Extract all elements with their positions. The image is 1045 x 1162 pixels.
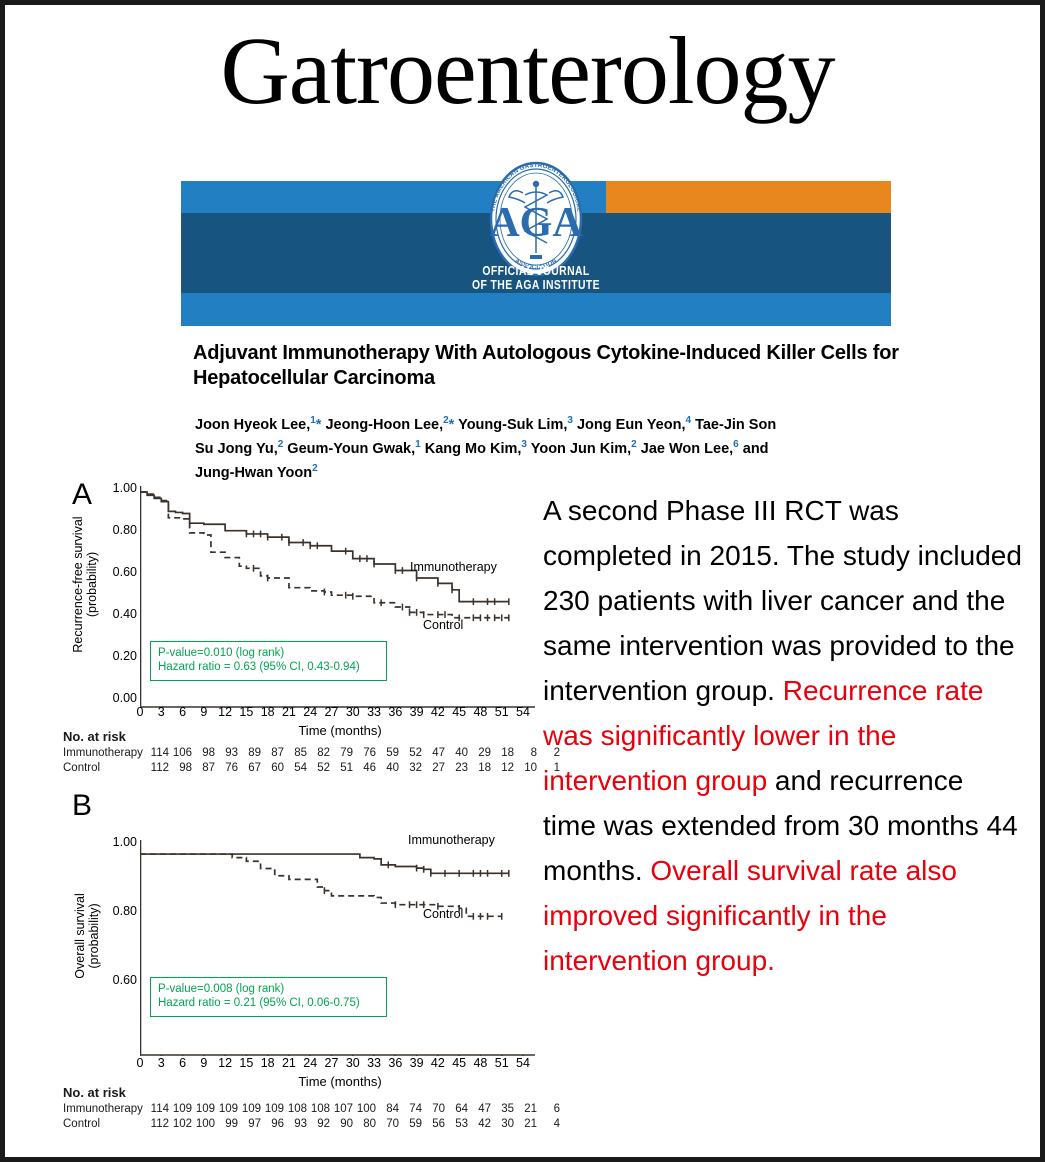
panel-a-risk-table: No. at risk Immunotherapy Control 114106… xyxy=(63,729,126,744)
x-tick-36: 36 xyxy=(384,705,406,719)
x-tick-27: 27 xyxy=(321,1056,343,1070)
x-tick-0: 0 xyxy=(129,705,151,719)
panel-b-plot-area xyxy=(140,840,535,1056)
panel-b-risk-row-label-0: Immunotherapy xyxy=(63,1103,143,1115)
x-tick-45: 45 xyxy=(448,705,470,719)
risk-cell: 70 xyxy=(377,1118,399,1130)
panel-b-risk-row-label-1: Control xyxy=(63,1118,100,1130)
x-tick-42: 42 xyxy=(427,705,449,719)
risk-cell: 46 xyxy=(354,762,376,774)
summary-text: A second Phase III RCT was completed in … xyxy=(543,488,1023,983)
panel-b-risk-table: No. at risk Immunotherapy Control 114109… xyxy=(63,1085,126,1100)
x-tick-18: 18 xyxy=(257,1056,279,1070)
risk-cell: 96 xyxy=(262,1118,284,1130)
x-tick-30: 30 xyxy=(342,1056,364,1070)
risk-cell: 21 xyxy=(515,1103,537,1115)
panel-b-x-axis-title: Time (months) xyxy=(240,1074,440,1089)
x-tick-42: 42 xyxy=(427,1056,449,1070)
risk-cell: 59 xyxy=(400,1118,422,1130)
risk-cell: 97 xyxy=(239,1118,261,1130)
x-tick-9: 9 xyxy=(193,1056,215,1070)
risk-cell: 108 xyxy=(285,1103,307,1115)
panel-b-hazard: Hazard ratio = 0.21 (95% CI, 0.06-0.75) xyxy=(158,996,380,1010)
risk-cell: 76 xyxy=(216,762,238,774)
risk-cell: 87 xyxy=(193,762,215,774)
panel-a-ytick-3: 0.60 xyxy=(93,565,137,579)
risk-cell: 109 xyxy=(193,1103,215,1115)
panel-a-ytick-1: 0.20 xyxy=(93,649,137,663)
risk-cell: 109 xyxy=(262,1103,284,1115)
panel-a-risk-row-0: 114106989389878582797659524740291882 xyxy=(142,747,560,759)
risk-cell: 53 xyxy=(446,1118,468,1130)
x-tick-51: 51 xyxy=(491,1056,513,1070)
risk-cell: 93 xyxy=(216,747,238,759)
x-tick-48: 48 xyxy=(469,1056,491,1070)
panel-b-y-axis-title: Overall survival (probability) xyxy=(73,836,101,1036)
risk-cell: 108 xyxy=(308,1103,330,1115)
panel-a-risk-header: No. at risk xyxy=(63,729,126,744)
risk-cell: 92 xyxy=(308,1118,330,1130)
panel-b-risk-row-0: 1141091091091091091081081071008474706447… xyxy=(142,1103,560,1115)
risk-cell: 59 xyxy=(377,747,399,759)
panel-a-ytick-4: 0.80 xyxy=(93,523,137,537)
risk-cell: 60 xyxy=(262,762,284,774)
risk-cell: 52 xyxy=(400,747,422,759)
poster-page: Gatroenterology THE AMERICAN GASTROENTER… xyxy=(0,0,1045,1162)
x-tick-48: 48 xyxy=(469,705,491,719)
risk-cell: 109 xyxy=(170,1103,192,1115)
x-tick-24: 24 xyxy=(299,1056,321,1070)
risk-cell: 64 xyxy=(446,1103,468,1115)
journal-subtitle-line2: OF THE AGA INSTITUTE xyxy=(252,278,820,292)
author-list: Joon Hyeok Lee,1* Jeong-Hoon Lee,2* Youn… xyxy=(195,411,935,482)
x-tick-54: 54 xyxy=(512,705,534,719)
risk-cell: 23 xyxy=(446,762,468,774)
x-tick-33: 33 xyxy=(363,1056,385,1070)
risk-cell: 100 xyxy=(354,1103,376,1115)
x-tick-12: 12 xyxy=(214,705,236,719)
risk-cell: 18 xyxy=(469,762,491,774)
risk-cell: 12 xyxy=(492,762,514,774)
risk-cell: 51 xyxy=(331,762,353,774)
panel-b-ytick-2: 1.00 xyxy=(93,835,137,849)
panel-b-x-tick-labels: 0369121518212427303336394245485154 xyxy=(140,1056,535,1074)
risk-cell: 89 xyxy=(239,747,261,759)
panel-a-ytick-2: 0.40 xyxy=(93,607,137,621)
risk-cell: 112 xyxy=(142,762,169,774)
risk-cell: 27 xyxy=(423,762,445,774)
risk-cell: 10 xyxy=(515,762,537,774)
risk-cell: 67 xyxy=(239,762,261,774)
x-tick-3: 3 xyxy=(150,1056,172,1070)
risk-cell: 76 xyxy=(354,747,376,759)
risk-cell: 98 xyxy=(193,747,215,759)
panel-a-x-axis-title: Time (months) xyxy=(240,723,440,738)
panel-b-risk-header: No. at risk xyxy=(63,1085,126,1100)
risk-cell: 107 xyxy=(331,1103,353,1115)
risk-cell: 99 xyxy=(216,1118,238,1130)
x-tick-12: 12 xyxy=(214,1056,236,1070)
x-tick-18: 18 xyxy=(257,705,279,719)
risk-cell: 30 xyxy=(492,1118,514,1130)
risk-cell: 56 xyxy=(423,1118,445,1130)
x-tick-54: 54 xyxy=(512,1056,534,1070)
risk-cell: 21 xyxy=(515,1118,537,1130)
x-tick-36: 36 xyxy=(384,1056,406,1070)
journal-subtitle-line1: OFFICIAL JOURNAL xyxy=(252,264,820,278)
x-tick-51: 51 xyxy=(491,705,513,719)
panel-b-label-immunotherapy: Immunotherapy xyxy=(408,833,495,847)
risk-cell: 98 xyxy=(170,762,192,774)
risk-cell: 52 xyxy=(308,762,330,774)
risk-cell: 47 xyxy=(469,1103,491,1115)
panel-b-ytick-1: 0.80 xyxy=(93,904,137,918)
article-title: Adjuvant Immunotherapy With Autologous C… xyxy=(193,341,923,391)
risk-cell: 85 xyxy=(285,747,307,759)
risk-cell: 100 xyxy=(193,1118,215,1130)
risk-cell: 112 xyxy=(142,1118,169,1130)
risk-cell: 6 xyxy=(538,1103,560,1115)
risk-cell: 109 xyxy=(239,1103,261,1115)
panel-a-label-control: Control xyxy=(423,618,463,632)
x-tick-39: 39 xyxy=(406,705,428,719)
risk-cell: 87 xyxy=(262,747,284,759)
panel-a-risk-row-label-1: Control xyxy=(63,762,100,774)
panel-b-stats-box: P-value=0.008 (log rank) Hazard ratio = … xyxy=(150,977,387,1017)
panel-a-risk-row-label-0: Immunotherapy xyxy=(63,747,143,759)
figure-panel-a: A Recurrence-free survival (probability)… xyxy=(65,477,535,777)
masthead: Gatroenterology xyxy=(5,23,1045,119)
risk-cell: 82 xyxy=(308,747,330,759)
x-tick-3: 3 xyxy=(150,705,172,719)
x-tick-15: 15 xyxy=(235,1056,257,1070)
figure-panel-b: B Overall survival (probability) 1.00 0.… xyxy=(65,791,535,1091)
journal-subtitle: OFFICIAL JOURNAL OF THE AGA INSTITUTE xyxy=(252,264,820,292)
risk-cell: 40 xyxy=(377,762,399,774)
risk-cell: 18 xyxy=(492,747,514,759)
x-tick-9: 9 xyxy=(193,705,215,719)
panel-a-pvalue: P-value=0.010 (log rank) xyxy=(158,646,380,660)
risk-cell: 47 xyxy=(423,747,445,759)
x-tick-21: 21 xyxy=(278,1056,300,1070)
x-tick-6: 6 xyxy=(172,705,194,719)
risk-cell: 42 xyxy=(469,1118,491,1130)
panel-a-hazard: Hazard ratio = 0.63 (95% CI, 0.43-0.94) xyxy=(158,660,380,674)
panel-b-risk-row-1: 11210210099979693929080705956534230214 xyxy=(142,1118,560,1130)
risk-cell: 84 xyxy=(377,1103,399,1115)
risk-cell: 8 xyxy=(515,747,537,759)
risk-cell: 29 xyxy=(469,747,491,759)
panel-a-ytick-5: 1.00 xyxy=(93,481,137,495)
panel-a-ytick-0: 0.00 xyxy=(93,691,137,705)
journal-title: Gatroenterology xyxy=(5,23,1045,119)
x-tick-45: 45 xyxy=(448,1056,470,1070)
panel-a-label-immunotherapy: Immunotherapy xyxy=(410,560,497,574)
risk-cell: 114 xyxy=(142,1103,169,1115)
risk-cell: 32 xyxy=(400,762,422,774)
x-tick-0: 0 xyxy=(129,1056,151,1070)
panel-a-x-tick-labels: 0369121518212427303336394245485154 xyxy=(140,705,535,723)
banner-band-light-bottom xyxy=(181,293,891,326)
x-tick-33: 33 xyxy=(363,705,385,719)
panel-b-ytick-0: 0.60 xyxy=(93,973,137,987)
risk-cell: 114 xyxy=(142,747,169,759)
risk-cell: 40 xyxy=(446,747,468,759)
panel-a-risk-row-1: 112988776676054525146403227231812101 xyxy=(142,762,560,774)
risk-cell: 54 xyxy=(285,762,307,774)
risk-cell: 74 xyxy=(400,1103,422,1115)
x-tick-15: 15 xyxy=(235,705,257,719)
risk-cell: 4 xyxy=(538,1118,560,1130)
banner-band-orange xyxy=(606,181,891,213)
panel-b-label-control: Control xyxy=(423,907,463,921)
risk-cell: 90 xyxy=(331,1118,353,1130)
x-tick-27: 27 xyxy=(321,705,343,719)
aga-seal-letters: AGA xyxy=(489,200,583,246)
x-tick-21: 21 xyxy=(278,705,300,719)
journal-banner: THE AMERICAN GASTROENTEROLOGICAL ASSOCIA… xyxy=(181,181,891,326)
panel-a-stats-box: P-value=0.010 (log rank) Hazard ratio = … xyxy=(150,641,387,681)
risk-cell: 109 xyxy=(216,1103,238,1115)
x-tick-6: 6 xyxy=(172,1056,194,1070)
risk-cell: 70 xyxy=(423,1103,445,1115)
risk-cell: 35 xyxy=(492,1103,514,1115)
risk-cell: 80 xyxy=(354,1118,376,1130)
risk-cell: 93 xyxy=(285,1118,307,1130)
x-tick-24: 24 xyxy=(299,705,321,719)
panel-b-pvalue: P-value=0.008 (log rank) xyxy=(158,982,380,996)
x-tick-30: 30 xyxy=(342,705,364,719)
risk-cell: 106 xyxy=(170,747,192,759)
panel-b-letter: B xyxy=(72,791,92,821)
risk-cell: 79 xyxy=(331,747,353,759)
x-tick-39: 39 xyxy=(406,1056,428,1070)
risk-cell: 102 xyxy=(170,1118,192,1130)
